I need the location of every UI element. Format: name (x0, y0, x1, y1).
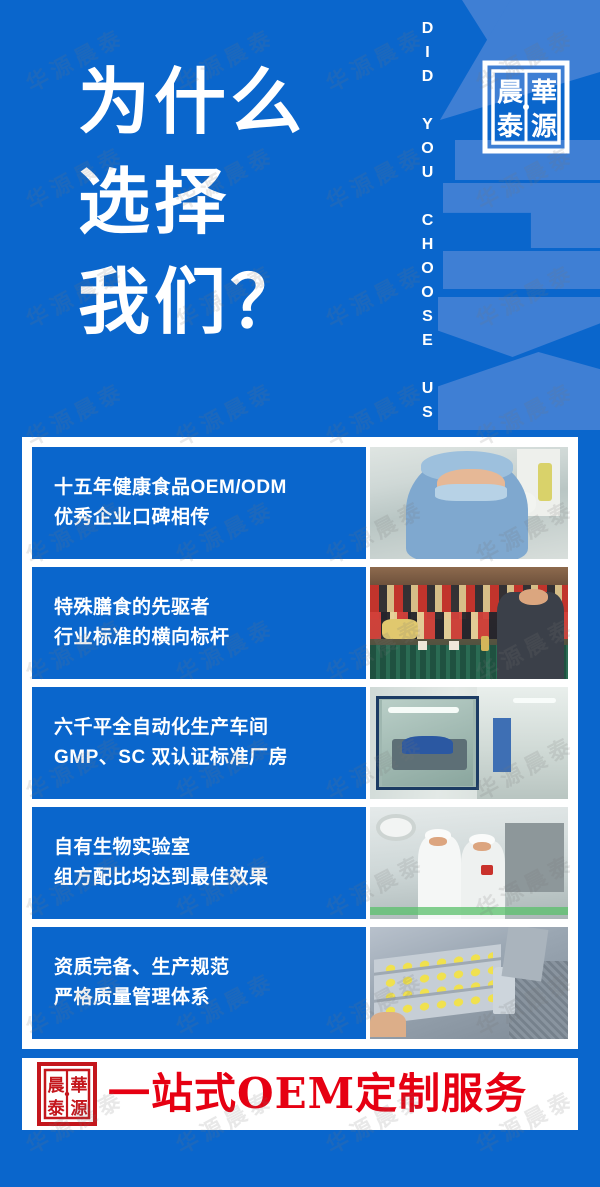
title-line-3: 我们？ (78, 252, 306, 352)
feature-card-image (370, 927, 568, 1039)
header-section: 为什么 选择 我们？ DID YOU CHOOSE US 晨 泰 華 源 (0, 0, 600, 432)
svg-text:泰: 泰 (48, 1098, 66, 1119)
feature-card[interactable]: 资质完备、生产规范 严格质量管理体系 (32, 927, 568, 1039)
feature-card-text: 特殊膳食的先驱者 行业标准的横向标杆 (32, 567, 366, 679)
feature-cards-panel: 十五年健康食品OEM/ODM 优秀企业口碑相传 特殊膳食的先驱者 行业标准的横向… (22, 437, 578, 1049)
why-shape-7 (438, 352, 600, 430)
feature-card-text: 六千平全自动化生产车间 GMP、SC 双认证标准厂房 (32, 687, 366, 799)
feature-card[interactable]: 六千平全自动化生产车间 GMP、SC 双认证标准厂房 (32, 687, 568, 799)
feature-card-line: 资质完备、生产规范 (54, 953, 366, 983)
svg-text:源: 源 (71, 1098, 88, 1119)
banner-seal-icon: 晨 泰 華 源 (36, 1060, 98, 1128)
svg-text:華: 華 (71, 1076, 88, 1096)
svg-text:源: 源 (531, 112, 557, 142)
svg-text:華: 華 (531, 78, 557, 108)
feature-card-line: 优秀企业口碑相传 (54, 503, 366, 533)
svg-text:晨: 晨 (497, 78, 524, 108)
feature-card[interactable]: 十五年健康食品OEM/ODM 优秀企业口碑相传 (32, 447, 568, 559)
feature-card-line: 十五年健康食品OEM/ODM (54, 473, 366, 503)
watermark-text: 华源晨泰 (0, 1152, 169, 1187)
feature-card-line: 组方配比均达到最佳效果 (54, 863, 366, 893)
watermark-text: 华源晨泰 (131, 1152, 319, 1187)
feature-card-image (370, 447, 568, 559)
why-shape-4 (443, 183, 600, 248)
company-seal-icon: 晨 泰 華 源 (480, 57, 572, 157)
feature-card-line: 特殊膳食的先驱者 (54, 593, 366, 623)
banner-text: 一站式OEM定制服务 (108, 1073, 527, 1115)
title-line-2: 选择 (78, 152, 306, 252)
feature-card-text: 资质完备、生产规范 严格质量管理体系 (32, 927, 366, 1039)
feature-card-image (370, 687, 568, 799)
why-shape-6 (438, 297, 600, 357)
vertical-tagline: DID YOU CHOOSE US (414, 20, 440, 412)
bottom-banner[interactable]: 晨 泰 華 源 一站式OEM定制服务 (22, 1058, 578, 1130)
feature-card-image (370, 567, 568, 679)
poster-root: 为什么 选择 我们？ DID YOU CHOOSE US 晨 泰 華 源 (0, 0, 600, 1187)
title-line-1: 为什么 (78, 52, 306, 152)
feature-card-line: 严格质量管理体系 (54, 983, 366, 1013)
feature-card-line: 六千平全自动化生产车间 (54, 713, 366, 743)
svg-text:泰: 泰 (497, 112, 524, 142)
feature-card[interactable]: 特殊膳食的先驱者 行业标准的横向标杆 (32, 567, 568, 679)
feature-card-line: 行业标准的横向标杆 (54, 623, 366, 653)
feature-card-text: 十五年健康食品OEM/ODM 优秀企业口碑相传 (32, 447, 366, 559)
why-shape-5 (443, 251, 600, 289)
feature-card-image (370, 807, 568, 919)
svg-text:晨: 晨 (48, 1076, 66, 1096)
watermark-text: 华源晨泰 (281, 1152, 469, 1187)
feature-card-line: 自有生物实验室 (54, 833, 366, 863)
feature-card-line: GMP、SC 双认证标准厂房 (54, 743, 366, 773)
vertical-tagline-text: DID YOU CHOOSE US (418, 20, 436, 428)
feature-card[interactable]: 自有生物实验室 组方配比均达到最佳效果 (32, 807, 568, 919)
page-title: 为什么 选择 我们？ (78, 52, 306, 352)
feature-card-text: 自有生物实验室 组方配比均达到最佳效果 (32, 807, 366, 919)
watermark-text: 华源晨泰 (431, 1152, 600, 1187)
